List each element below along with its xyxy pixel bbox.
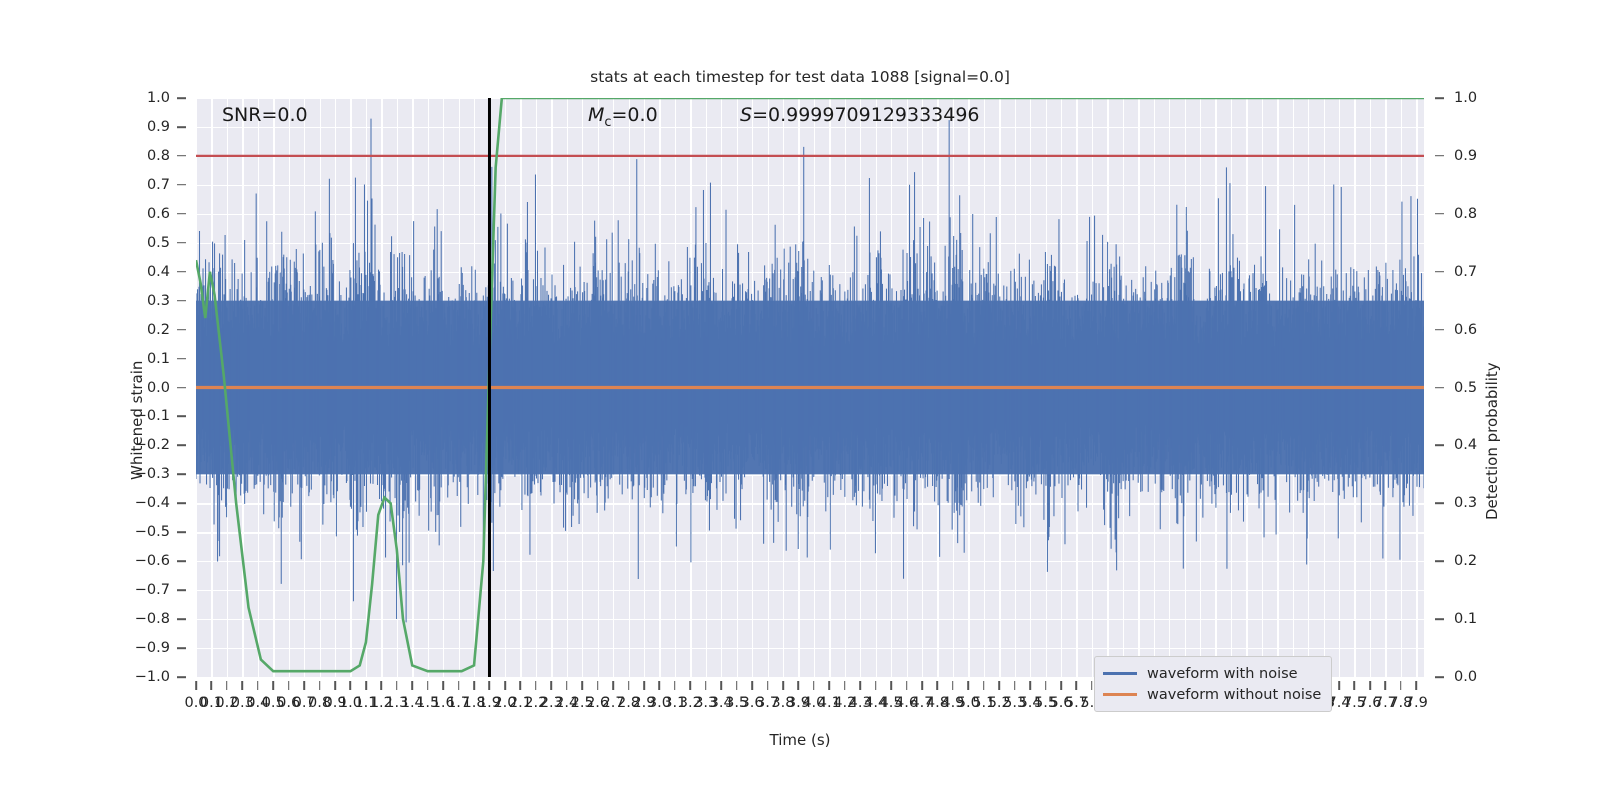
x-axis-tick — [736, 681, 738, 690]
y-axis-left-tick — [177, 618, 186, 620]
x-axis-tick — [195, 681, 197, 690]
y-axis-left-tick-label: −0.6 — [135, 553, 170, 569]
x-axis-tick — [427, 681, 429, 690]
y-axis-right-tick — [1435, 97, 1444, 99]
x-axis-tick — [875, 681, 877, 690]
legend-label: waveform with noise — [1147, 666, 1298, 682]
y-axis-left-tick-label: −0.8 — [135, 611, 170, 627]
y-axis-left-tick — [177, 531, 186, 533]
y-axis-left-tick — [177, 474, 186, 476]
legend-item: waveform with noise — [1103, 663, 1321, 684]
x-axis-tick — [211, 681, 213, 690]
x-axis-tick — [473, 681, 475, 690]
score-value: =0.9999709129333496 — [752, 104, 979, 126]
y-axis-right: 1.00.90.80.70.60.50.40.30.20.10.0 — [1424, 98, 1600, 677]
y-axis-left-tick — [177, 242, 186, 244]
x-axis-tick — [458, 681, 460, 690]
x-axis-tick — [396, 681, 398, 690]
y-axis-right-tick — [1435, 387, 1444, 389]
x-axis-tick — [288, 681, 290, 690]
x-axis-tick — [998, 681, 1000, 690]
y-axis-left-tick — [177, 560, 186, 562]
y-axis-title-right: Detection probability — [1483, 362, 1501, 520]
x-axis-title: Time (s) — [0, 731, 1600, 749]
x-axis-tick — [226, 681, 228, 690]
x-axis-tick — [272, 681, 274, 690]
figure-canvas: stats at each timestep for test data 108… — [0, 0, 1600, 800]
chart-title: stats at each timestep for test data 108… — [0, 68, 1600, 86]
y-axis-left-tick — [177, 97, 186, 99]
data-layer — [196, 98, 1424, 677]
y-axis-left-tick — [177, 503, 186, 505]
y-axis-left-tick-label: −0.7 — [135, 582, 170, 598]
x-axis-tick — [1014, 681, 1016, 690]
x-axis-tick — [798, 681, 800, 690]
x-axis-tick — [1369, 681, 1371, 690]
x-axis-tick — [612, 681, 614, 690]
legend: waveform with noise waveform without noi… — [1094, 656, 1332, 712]
x-axis-tick — [381, 681, 383, 690]
legend-swatch-waveform-without-noise — [1103, 693, 1137, 695]
x-axis-tick — [1091, 681, 1093, 690]
y-axis-left-tick — [177, 647, 186, 649]
score-symbol: S — [740, 104, 752, 126]
x-axis-tick — [1029, 681, 1031, 690]
y-axis-right-tick — [1435, 676, 1444, 678]
x-axis-tick — [890, 681, 892, 690]
y-axis-right-tick-label: 0.2 — [1454, 553, 1477, 569]
x-axis-tick — [504, 681, 506, 690]
y-axis-left-tick — [177, 387, 186, 389]
y-axis-left-tick-label: 0.0 — [147, 380, 170, 396]
y-axis-right-tick-label: 0.9 — [1454, 148, 1477, 164]
x-axis-tick — [829, 681, 831, 690]
x-axis-tick-label: 7.9 — [1405, 695, 1428, 711]
x-axis-tick — [782, 681, 784, 690]
y-axis-left-tick — [177, 155, 186, 157]
x-axis-tick — [813, 681, 815, 690]
y-axis-right-tick — [1435, 560, 1444, 562]
x-axis-tick — [751, 681, 753, 690]
x-axis-tick — [257, 681, 259, 690]
y-axis-right-tick — [1435, 213, 1444, 215]
x-axis-tick — [1060, 681, 1062, 690]
x-axis-tick — [705, 681, 707, 690]
annotation-chirp-mass: Mc=0.0 — [588, 104, 658, 130]
y-axis-right-tick-label: 0.7 — [1454, 264, 1477, 280]
x-axis-tick — [535, 681, 537, 690]
x-axis-tick — [983, 681, 985, 690]
x-axis-tick — [689, 681, 691, 690]
x-axis-tick — [1045, 681, 1047, 690]
x-axis-tick — [1354, 681, 1356, 690]
x-axis-tick — [1385, 681, 1387, 690]
x-axis-tick — [659, 681, 661, 690]
mc-symbol: M — [588, 104, 604, 126]
y-axis-left-tick — [177, 676, 186, 678]
legend-item: waveform without noise — [1103, 684, 1321, 705]
y-axis-left-tick — [177, 445, 186, 447]
annotation-score: S=0.9999709129333496 — [740, 104, 980, 126]
x-axis-tick — [906, 681, 908, 690]
y-axis-right-tick — [1435, 329, 1444, 331]
plot-area — [196, 98, 1424, 677]
y-axis-right-tick-label: 0.8 — [1454, 206, 1477, 222]
y-axis-left-tick-label: 0.1 — [147, 351, 170, 367]
y-axis-left-tick — [177, 213, 186, 215]
y-axis-right-tick-label: 0.4 — [1454, 437, 1477, 453]
y-axis-left-tick-label: 0.9 — [147, 119, 170, 135]
x-axis-tick — [628, 681, 630, 690]
y-axis-right-tick-label: 0.3 — [1454, 495, 1477, 511]
x-axis-tick — [319, 681, 321, 690]
annotation-snr: SNR=0.0 — [222, 104, 308, 126]
y-axis-left-tick-label: −0.9 — [135, 640, 170, 656]
x-axis-tick — [844, 681, 846, 690]
y-axis-left-tick-label: 0.7 — [147, 177, 170, 193]
y-axis-right-tick — [1435, 271, 1444, 273]
x-axis-tick — [365, 681, 367, 690]
y-axis-left-tick-label: 0.6 — [147, 206, 170, 222]
y-axis-left-tick-label: 0.4 — [147, 264, 170, 280]
x-axis-tick — [643, 681, 645, 690]
y-axis-left-tick — [177, 358, 186, 360]
y-axis-right-tick — [1435, 503, 1444, 505]
x-axis-tick — [674, 681, 676, 690]
x-axis-tick — [859, 681, 861, 690]
y-axis-left-tick-label: −0.4 — [135, 495, 170, 511]
x-axis-tick — [242, 681, 244, 690]
y-axis-right-tick-label: 0.5 — [1454, 380, 1477, 396]
x-axis-tick — [968, 681, 970, 690]
y-axis-left-tick — [177, 416, 186, 418]
x-axis-tick — [1415, 681, 1417, 690]
legend-label: waveform without noise — [1147, 687, 1321, 703]
y-axis-left: 1.00.90.80.70.60.50.40.30.20.10.0−0.1−0.… — [0, 98, 196, 677]
y-axis-right-tick-label: 0.1 — [1454, 611, 1477, 627]
y-axis-title-left: Whitened strain — [128, 361, 146, 480]
x-axis-tick — [921, 681, 923, 690]
x-axis-tick — [350, 681, 352, 690]
y-axis-left-tick-label: 0.3 — [147, 293, 170, 309]
x-axis-tick — [411, 681, 413, 690]
x-axis-tick — [952, 681, 954, 690]
y-axis-right-tick-label: 1.0 — [1454, 90, 1477, 106]
x-axis-tick — [442, 681, 444, 690]
y-axis-left-tick — [177, 126, 186, 128]
x-axis-tick — [597, 681, 599, 690]
y-axis-left-tick-label: −1.0 — [135, 669, 170, 685]
x-axis-tick — [1400, 681, 1402, 690]
y-axis-left-tick — [177, 271, 186, 273]
legend-swatch-waveform-with-noise — [1103, 672, 1137, 674]
mc-subscript: c — [604, 115, 611, 130]
x-axis-tick — [566, 681, 568, 690]
y-axis-right-tick-label: 0.6 — [1454, 322, 1477, 338]
y-axis-left-tick-label: 0.8 — [147, 148, 170, 164]
y-axis-left-tick — [177, 589, 186, 591]
x-axis-tick — [1338, 681, 1340, 690]
x-axis-tick — [581, 681, 583, 690]
y-axis-left-tick-label: 0.2 — [147, 322, 170, 338]
y-axis-left-tick-label: 1.0 — [147, 90, 170, 106]
x-axis-tick — [520, 681, 522, 690]
y-axis-left-tick-label: −0.5 — [135, 524, 170, 540]
x-axis-tick — [767, 681, 769, 690]
x-axis-tick — [720, 681, 722, 690]
mc-value: =0.0 — [612, 104, 658, 126]
y-axis-right-tick — [1435, 445, 1444, 447]
x-axis-tick — [334, 681, 336, 690]
y-axis-left-tick — [177, 329, 186, 331]
y-axis-right-tick-label: 0.0 — [1454, 669, 1477, 685]
y-axis-left-tick — [177, 300, 186, 302]
x-axis-tick — [937, 681, 939, 690]
x-axis-tick — [303, 681, 305, 690]
y-axis-left-tick — [177, 184, 186, 186]
x-axis-tick — [1076, 681, 1078, 690]
y-axis-right-tick — [1435, 155, 1444, 157]
y-axis-left-tick-label: 0.5 — [147, 235, 170, 251]
x-axis-tick — [550, 681, 552, 690]
y-axis-right-tick — [1435, 618, 1444, 620]
x-axis-tick — [489, 681, 491, 690]
